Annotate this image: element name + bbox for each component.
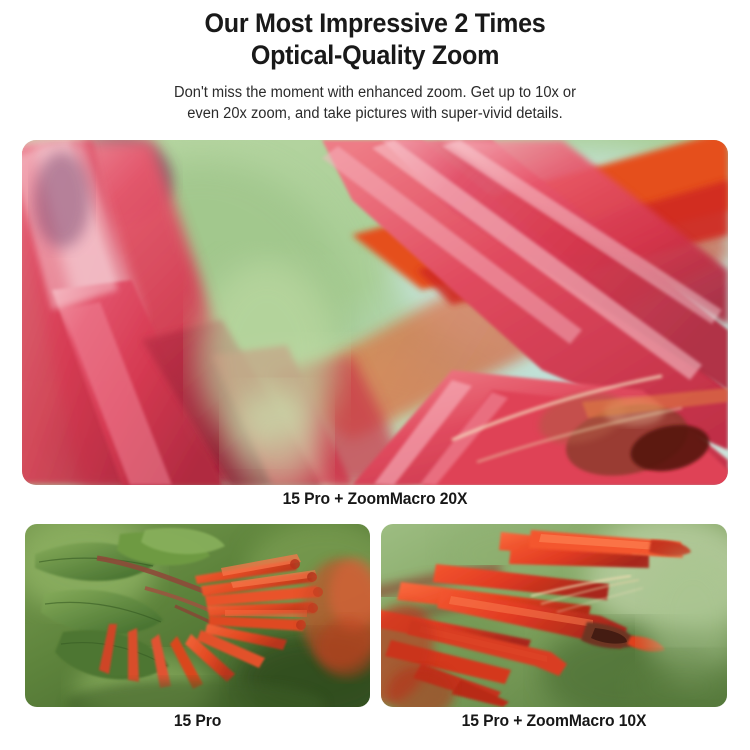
subhead-line-1: Don't miss the moment with enhanced zoom… [174, 84, 576, 101]
page-subtitle: Don't miss the moment with enhanced zoom… [15, 82, 735, 125]
header: Our Most Impressive 2 Times Optical-Qual… [0, 0, 750, 125]
hero-photo-caption: 15 Pro + ZoomMacro 20X [19, 490, 732, 509]
thumbnail-left-caption: 15 Pro [34, 712, 362, 731]
hero-photo-image [22, 140, 728, 485]
thumbnail-right-caption: 15 Pro + ZoomMacro 10X [390, 712, 719, 731]
page-title: Our Most Impressive 2 Times Optical-Qual… [26, 8, 724, 72]
thumbnail-photo-15pro [25, 524, 370, 707]
headline-line-1: Our Most Impressive 2 Times [205, 8, 546, 38]
subhead-line-2: even 20x zoom, and take pictures with su… [187, 105, 562, 122]
thumbnail-photo-zoommacro-10x [381, 524, 727, 707]
thumbnail-left-image [25, 524, 370, 707]
thumbnail-right-image [381, 524, 727, 707]
product-feature-page: Our Most Impressive 2 Times Optical-Qual… [0, 0, 750, 750]
headline-line-2: Optical-Quality Zoom [251, 40, 499, 70]
hero-photo-20x [22, 140, 728, 485]
